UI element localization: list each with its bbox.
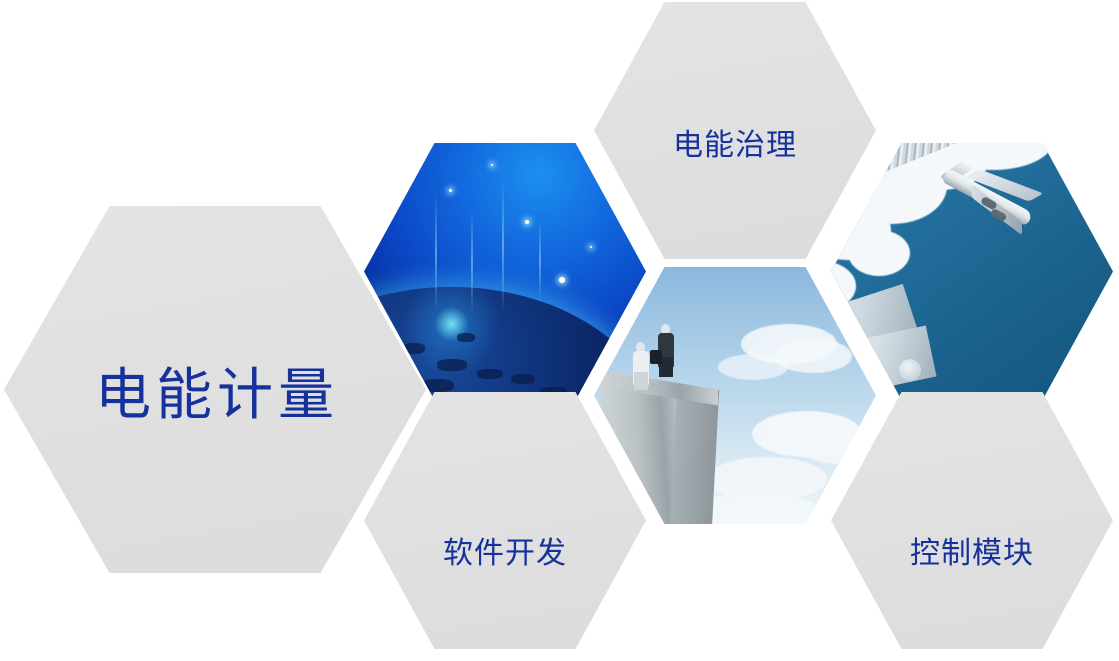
star-icon bbox=[449, 189, 452, 192]
hex-tile-control-module[interactable]: 控制模块 bbox=[831, 392, 1113, 649]
hex-label-power-governance: 电能治理 bbox=[673, 120, 797, 164]
star-icon bbox=[590, 246, 592, 248]
earth-surface-speck bbox=[437, 359, 467, 371]
hex-tile-skyline-image[interactable] bbox=[594, 267, 876, 524]
light-ray bbox=[539, 220, 541, 302]
hexagon-cluster-diagram: 电能计量 电能治理 bbox=[0, 0, 1119, 661]
hex-tile-airplane-image[interactable] bbox=[831, 143, 1113, 400]
star-icon bbox=[559, 277, 565, 283]
earth-surface-speck bbox=[457, 333, 475, 342]
light-ray bbox=[502, 179, 504, 313]
earth-surface-speck bbox=[403, 343, 425, 354]
earth-surface-speck bbox=[420, 379, 454, 392]
light-ray bbox=[435, 194, 437, 312]
hex-tile-software-development[interactable]: 软件开发 bbox=[364, 392, 646, 649]
satellite-dish-icon bbox=[899, 359, 921, 381]
person-figure-suit bbox=[656, 324, 678, 376]
light-ray bbox=[471, 210, 473, 313]
cloud-shape bbox=[797, 426, 876, 464]
hex-label-software-development: 软件开发 bbox=[443, 528, 567, 572]
earth-surface-speck bbox=[477, 369, 503, 379]
businesspeople-on-pillar-artwork bbox=[594, 267, 876, 524]
briefcase-icon bbox=[650, 350, 662, 364]
cloud-shape bbox=[718, 354, 788, 380]
star-icon bbox=[491, 164, 493, 166]
person-figure-light bbox=[631, 342, 651, 388]
concrete-pillar-right-face bbox=[669, 390, 719, 524]
airplane-in-blue-sky-artwork bbox=[831, 143, 1113, 400]
cloud-shape bbox=[848, 230, 910, 276]
hex-label-main: 电能计量 bbox=[95, 350, 339, 431]
star-icon bbox=[525, 220, 529, 224]
hex-tile-main-power-metering[interactable]: 电能计量 bbox=[4, 206, 426, 573]
earth-surface-speck bbox=[511, 374, 535, 384]
person-legs bbox=[634, 372, 648, 390]
hex-label-control-module: 控制模块 bbox=[910, 528, 1034, 572]
hex-tile-power-governance[interactable]: 电能治理 bbox=[594, 2, 876, 259]
